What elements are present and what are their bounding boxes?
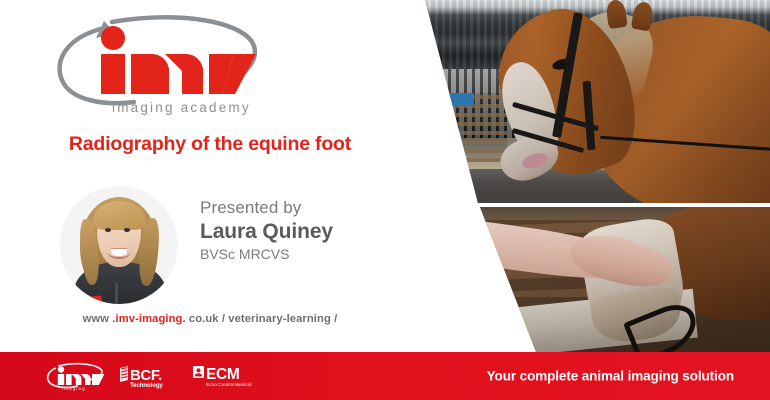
footer-logo-group: imaging: [44, 360, 260, 392]
ecm-logo[interactable]: ECM Echo Control Medical: [192, 363, 260, 389]
presenter-block: Presented by Laura Quiney BVSc MRCVS: [60, 186, 400, 306]
logo-subtitle: imaging academy: [112, 100, 251, 115]
photo-panel: [400, 0, 770, 352]
bcf-sub: Technology: [130, 382, 163, 389]
bcf-mark: [120, 366, 128, 382]
logo-svg: imaging academy: [30, 8, 280, 118]
avatar-jacket-zip: [115, 283, 118, 304]
avatar: [60, 186, 178, 304]
presented-by-label: Presented by: [200, 197, 410, 219]
hoof-examination-photo: [400, 207, 770, 352]
website-url[interactable]: www .imv-imaging. co.uk / veterinary-lea…: [0, 313, 420, 325]
bcf-technology-logo[interactable]: BCF. Technology: [118, 362, 182, 390]
ecm-logo-svg: ECM Echo Control Medical: [192, 363, 260, 389]
content-pane: imaging academy Radiography of the equin…: [0, 0, 420, 352]
ecm-wordmark: ECM: [206, 366, 240, 383]
footer-bar: imaging: [0, 352, 770, 400]
imv-imaging-logo[interactable]: imaging: [44, 361, 108, 391]
url-suffix: co.uk / veterinary-learning /: [186, 313, 338, 325]
avatar-eye-right: [124, 228, 130, 232]
footer-tagline: Your complete animal imaging solution: [487, 369, 734, 384]
blue-bucket: [448, 93, 474, 105]
slide-canvas: imaging academy Radiography of the equin…: [0, 0, 770, 400]
bcf-logo-svg: BCF. Technology: [118, 362, 182, 390]
horse-stable-photo: [400, 0, 770, 203]
url-prefix: www .: [83, 313, 116, 325]
imv-logo-svg: imaging: [44, 361, 108, 391]
logo-wordmark: [101, 26, 256, 94]
presenter-qualifications: BVSc MRCVS: [200, 245, 410, 264]
presenter-name: Laura Quiney: [200, 219, 410, 245]
presenter-text: Presented by Laura Quiney BVSc MRCVS: [200, 197, 410, 264]
url-accent: imv-imaging.: [116, 313, 186, 325]
ecm-sub: Echo Control Medical: [206, 382, 252, 387]
footer-imv-sub: imaging: [62, 386, 86, 391]
footer-imv-wordmark: [58, 366, 105, 385]
avatar-teeth: [111, 249, 128, 256]
imv-imaging-academy-logo: imaging academy: [30, 8, 280, 118]
page-title: Radiography of the equine foot: [0, 133, 420, 156]
